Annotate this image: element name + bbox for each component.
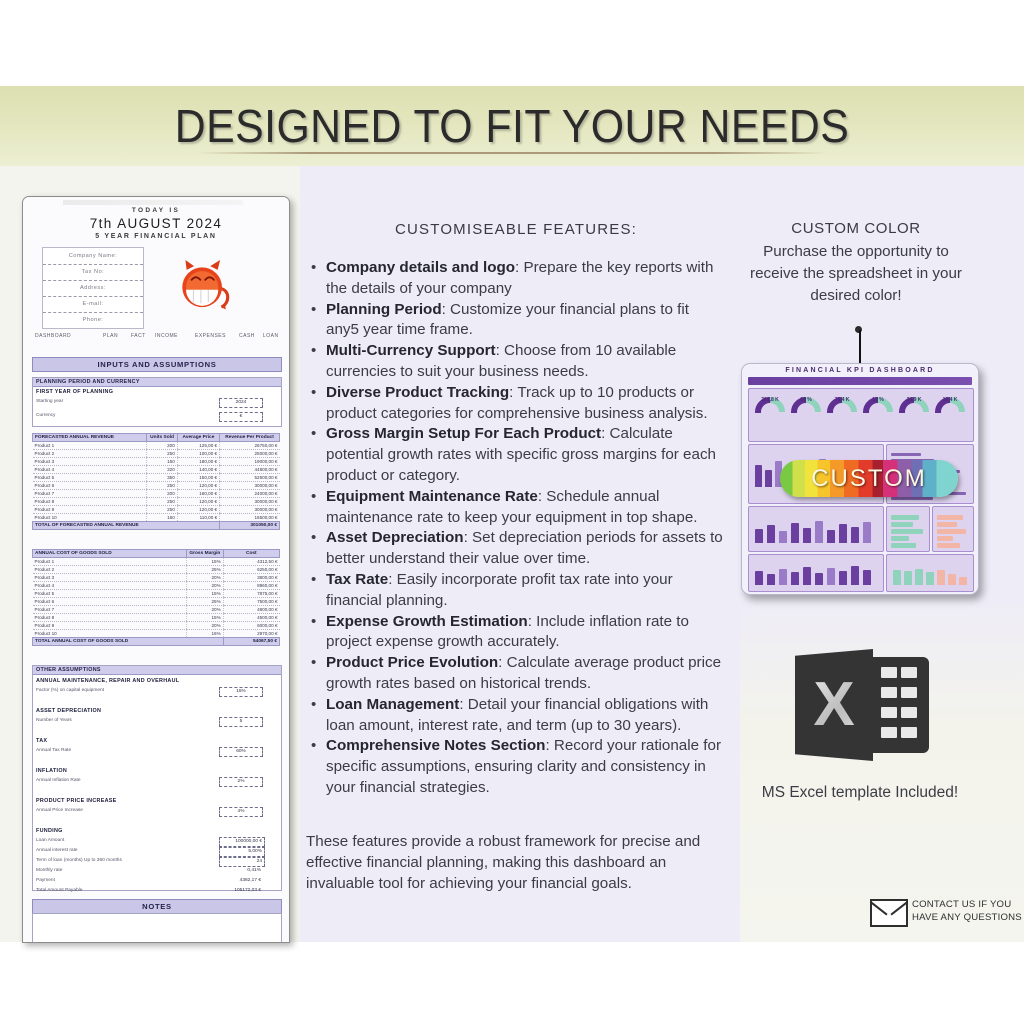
revenue-units-cell: 200 bbox=[147, 442, 178, 450]
starting-year-input[interactable]: 2024 bbox=[219, 398, 263, 408]
feature-term: Expense Growth Estimation bbox=[326, 613, 528, 630]
revenue-price-cell: 120,00 € bbox=[177, 498, 219, 506]
chart-bar bbox=[791, 572, 799, 585]
features-closing-paragraph: These features provide a robust framewor… bbox=[306, 832, 726, 894]
cogs-cost-cell: 7875,00 € bbox=[223, 590, 279, 598]
horizontal-bar bbox=[937, 536, 953, 541]
notes-section-header: NOTES bbox=[32, 899, 282, 914]
feature-bullet: Company details and logo: Prepare the ke… bbox=[306, 258, 726, 300]
cogs-name-cell: Product 9 bbox=[33, 622, 187, 630]
horizontal-bar bbox=[891, 529, 923, 534]
chart-bar bbox=[937, 570, 945, 585]
excel-grid-cell bbox=[901, 707, 917, 718]
funding-label: Payment bbox=[36, 878, 55, 883]
revenue-price-cell: 180,00 € bbox=[177, 458, 219, 466]
revenue-name-cell: Product 10 bbox=[33, 514, 147, 522]
feature-term: Gross Margin Setup For Each Product bbox=[326, 425, 601, 442]
feature-term: Comprehensive Notes Section bbox=[326, 737, 545, 754]
maintenance-input[interactable]: 15% bbox=[219, 687, 263, 697]
top-white-band bbox=[0, 0, 1024, 86]
revenue-col-units: Units Sold bbox=[147, 434, 178, 442]
spreadsheet-page: TODAY IS 7th AUGUST 2024 5 YEAR FINANCIA… bbox=[23, 197, 289, 942]
table-row: Product 3150180,00 €19000,00 € bbox=[33, 458, 280, 466]
cogs-name-cell: Product 2 bbox=[33, 566, 187, 574]
revenue-revenue-cell: 30000,00 € bbox=[220, 498, 280, 506]
company-form-box: Company Name: Tax No: Address: E-mail: P… bbox=[42, 247, 144, 329]
revenue-price-cell: 125,00 € bbox=[177, 442, 219, 450]
table-row: Product 4320140,00 €44800,00 € bbox=[33, 466, 280, 474]
chart-bar bbox=[755, 571, 763, 585]
maintenance-label: Factor (%) on capital equipment bbox=[36, 688, 104, 693]
revenue-total-label: TOTAL OF FORECASTED ANNUAL REVENUE bbox=[33, 522, 220, 530]
cogs-cost-cell: 8960,00 € bbox=[223, 582, 279, 590]
dashboard-yearly-bars-card bbox=[748, 554, 884, 592]
chart-bar bbox=[893, 570, 901, 585]
revenue-revenue-cell: 19000,00 € bbox=[220, 458, 280, 466]
chart-bar bbox=[926, 572, 934, 585]
dashboard-hbars-salmon-card bbox=[932, 506, 974, 552]
currency-label: Currency bbox=[36, 413, 55, 418]
sheet-tab-dashboard[interactable]: DASHBOARD bbox=[35, 333, 71, 339]
funding-value: 4382,17 € bbox=[219, 878, 261, 883]
tax-input[interactable]: 60% bbox=[219, 747, 263, 757]
chart-bar bbox=[755, 465, 762, 487]
table-row-line bbox=[891, 453, 921, 456]
dashboard-gauges-card: 301,8 K 68 % 75,4 K 12 % 24,9 K 19,4 K bbox=[748, 388, 974, 442]
table-row: Product 10160110,00 €16500,00 € bbox=[33, 514, 280, 522]
sheet-nav-tabs[interactable]: DASHBOARD PLAN FACT INCOME EXPENSES CASH… bbox=[31, 333, 281, 343]
chart-bar bbox=[839, 524, 847, 543]
feature-term: Loan Management bbox=[326, 696, 459, 713]
starting-year-label: Starting year bbox=[36, 399, 63, 404]
horizontal-bar bbox=[891, 536, 909, 541]
inputs-section-header: INPUTS AND ASSUMPTIONS bbox=[32, 357, 282, 372]
cogs-table: ANNUAL COST OF GOODS SOLD Gross Margin C… bbox=[32, 549, 280, 646]
revenue-revenue-cell: 30000,00 € bbox=[220, 482, 280, 490]
table-row: Product 115%4312,50 € bbox=[33, 558, 280, 566]
funding-value[interactable]: 5,00% bbox=[219, 847, 265, 857]
plan-subtitle: 5 YEAR FINANCIAL PLAN bbox=[23, 233, 289, 240]
depreciation-title: ASSET DEPRECIATION bbox=[36, 708, 101, 714]
cogs-name-cell: Product 1 bbox=[33, 558, 187, 566]
excel-logo: X bbox=[795, 645, 931, 763]
revenue-units-cell: 160 bbox=[147, 514, 178, 522]
revenue-col-price: Average Price bbox=[177, 434, 219, 442]
feature-bullet: Gross Margin Setup For Each Product: Cal… bbox=[306, 424, 726, 486]
envelope-icon bbox=[870, 899, 908, 927]
feature-term: Equipment Maintenance Rate bbox=[326, 488, 538, 505]
chart-bar bbox=[755, 529, 763, 543]
revenue-name-cell: Product 3 bbox=[33, 458, 147, 466]
revenue-units-cell: 200 bbox=[147, 490, 178, 498]
table-row: Product 515%7875,00 € bbox=[33, 590, 280, 598]
feature-term: Company details and logo bbox=[326, 259, 515, 276]
feature-bullet: Product Price Evolution: Calculate avera… bbox=[306, 653, 726, 695]
custom-pill-label: CUSTOM bbox=[780, 460, 958, 497]
table-row: Product 625%7500,00 € bbox=[33, 598, 280, 606]
excel-grid-cell bbox=[901, 727, 917, 738]
feature-bullet: Asset Depreciation: Set depreciation per… bbox=[306, 528, 726, 570]
bottom-white-band bbox=[0, 942, 1024, 1024]
depreciation-input[interactable]: 5 bbox=[219, 717, 263, 727]
sheet-top-strip bbox=[63, 200, 243, 205]
revenue-units-cell: 250 bbox=[147, 506, 178, 514]
sheet-tab-income[interactable]: INCOME bbox=[155, 333, 178, 339]
contact-text: CONTACT US IF YOU HAVE ANY QUESTIONS bbox=[912, 899, 1024, 924]
funding-label: Term of loan (months) Up to 360 months bbox=[36, 858, 122, 863]
planning-panel-title: PLANNING PERIOD AND CURRENCY bbox=[33, 378, 281, 387]
cogs-title: ANNUAL COST OF GOODS SOLD bbox=[33, 550, 187, 558]
feature-bullet: Loan Management: Detail your financial o… bbox=[306, 695, 726, 737]
sheet-tab-fact[interactable]: FACT bbox=[131, 333, 146, 339]
forecasted-revenue-table: FORECASTED ANNUAL REVENUE Units Sold Ave… bbox=[32, 433, 280, 530]
other-assumptions-title: OTHER ASSUMPTIONS bbox=[33, 666, 281, 675]
price-increase-title: PRODUCT PRICE INCREASE bbox=[36, 798, 117, 804]
gauge-cash-flow-value: 24,9 K bbox=[899, 397, 929, 403]
chart-bar bbox=[779, 569, 787, 585]
gauge-total-income-value: 301,8 K bbox=[755, 397, 785, 403]
cogs-cost-cell: 6000,00 € bbox=[223, 622, 279, 630]
cogs-cost-cell: 4312,50 € bbox=[223, 558, 279, 566]
revenue-total-value: 301050,00 € bbox=[220, 522, 280, 530]
table-row-line bbox=[891, 497, 933, 500]
custom-color-subtitle: Purchase the opportunity to receive the … bbox=[740, 241, 972, 307]
feature-bullet: Comprehensive Notes Section: Record your… bbox=[306, 736, 726, 798]
chart-bar bbox=[827, 568, 835, 585]
cogs-name-cell: Product 7 bbox=[33, 606, 187, 614]
chart-bar bbox=[791, 523, 799, 543]
title-underline bbox=[196, 152, 828, 154]
table-row: Product 1016%2970,00 € bbox=[33, 630, 280, 638]
revenue-col-revenue: Revenue Per Product bbox=[220, 434, 280, 442]
revenue-revenue-cell: 25000,00 € bbox=[220, 450, 280, 458]
chart-bar bbox=[915, 569, 923, 585]
revenue-total-row: TOTAL OF FORECASTED ANNUAL REVENUE301050… bbox=[33, 522, 280, 530]
revenue-name-cell: Product 9 bbox=[33, 506, 147, 514]
sheet-tab-loan[interactable]: LOAN bbox=[263, 333, 279, 339]
form-field-company-name[interactable]: Company Name: bbox=[43, 248, 143, 265]
form-field-tax-no[interactable]: Tax No: bbox=[43, 264, 143, 281]
revenue-units-cell: 350 bbox=[147, 474, 178, 482]
horizontal-bar bbox=[937, 515, 963, 520]
funding-value: 105172,03 € bbox=[219, 888, 261, 893]
excel-grid-cell bbox=[881, 687, 897, 698]
revenue-units-cell: 250 bbox=[147, 450, 178, 458]
horizontal-bar bbox=[937, 529, 966, 534]
table-row: Product 1200125,00 €26750,00 € bbox=[33, 442, 280, 450]
cogs-name-cell: Product 10 bbox=[33, 630, 187, 638]
revenue-price-cell: 100,00 € bbox=[177, 450, 219, 458]
gauge-ebitda-value: 75,4 K bbox=[827, 397, 857, 403]
dashboard-title: FINANCIAL KPI DASHBOARD bbox=[742, 367, 978, 374]
table-row: Product 920%6000,00 € bbox=[33, 622, 280, 630]
cogs-name-cell: Product 4 bbox=[33, 582, 187, 590]
feature-bullet: Expense Growth Estimation: Include infla… bbox=[306, 612, 726, 654]
revenue-revenue-cell: 26750,00 € bbox=[220, 442, 280, 450]
date-day: 7th bbox=[90, 216, 113, 231]
cogs-name-cell: Product 6 bbox=[33, 598, 187, 606]
excel-caption: MS Excel template Included! bbox=[740, 782, 980, 804]
cogs-margin-cell: 15% bbox=[187, 590, 224, 598]
funding-label: Monthly rate bbox=[36, 868, 62, 873]
date-rest: AUGUST 2024 bbox=[117, 216, 222, 231]
feature-term: Tax Rate bbox=[326, 571, 388, 588]
gauge-gross-profit-value: 68 % bbox=[791, 397, 821, 403]
revenue-price-cell: 120,00 € bbox=[177, 506, 219, 514]
revenue-revenue-cell: 16500,00 € bbox=[220, 514, 280, 522]
revenue-price-cell: 160,00 € bbox=[177, 490, 219, 498]
excel-grid-cell bbox=[881, 667, 897, 678]
revenue-revenue-cell: 52500,00 € bbox=[220, 474, 280, 482]
revenue-name-cell: Product 6 bbox=[33, 482, 147, 490]
chart-bar bbox=[863, 570, 871, 585]
gauge-net-profit-margin-value: 12 % bbox=[863, 397, 893, 403]
revenue-price-cell: 140,00 € bbox=[177, 466, 219, 474]
horizontal-bar bbox=[891, 522, 913, 527]
chart-bar bbox=[839, 571, 847, 585]
revenue-revenue-cell: 30000,00 € bbox=[220, 506, 280, 514]
revenue-name-cell: Product 7 bbox=[33, 490, 147, 498]
custom-color-pill[interactable]: CUSTOM bbox=[780, 460, 958, 497]
planning-period-panel: PLANNING PERIOD AND CURRENCY FIRST YEAR … bbox=[32, 377, 282, 427]
form-field-email[interactable]: E-mail: bbox=[43, 296, 143, 313]
inflation-label: Annual Inflation Rate bbox=[36, 778, 81, 783]
table-row: Product 8250120,00 €30000,00 € bbox=[33, 498, 280, 506]
revenue-name-cell: Product 4 bbox=[33, 466, 147, 474]
revenue-title: FORECASTED ANNUAL REVENUE bbox=[33, 434, 147, 442]
feature-bullet: Diverse Product Tracking: Track up to 10… bbox=[306, 383, 726, 425]
cogs-margin-cell: 25% bbox=[187, 566, 224, 574]
chart-bar bbox=[851, 527, 859, 543]
feature-term: Multi-Currency Support bbox=[326, 342, 496, 359]
revenue-units-cell: 250 bbox=[147, 482, 178, 490]
table-row: Product 6250120,00 €30000,00 € bbox=[33, 482, 280, 490]
chart-bar bbox=[803, 528, 811, 543]
feature-bullet: Tax Rate: Easily incorporate profit tax … bbox=[306, 570, 726, 612]
feature-term: Product Price Evolution bbox=[326, 654, 498, 671]
today-date: 7th AUGUST 2024 bbox=[23, 216, 289, 231]
dashboard-filter-ribbon[interactable] bbox=[748, 377, 972, 385]
today-label: TODAY IS bbox=[23, 207, 289, 214]
currency-input[interactable]: € bbox=[219, 412, 263, 422]
revenue-name-cell: Product 8 bbox=[33, 498, 147, 506]
chart-bar bbox=[765, 470, 772, 487]
feature-bullet: Equipment Maintenance Rate: Schedule ann… bbox=[306, 487, 726, 529]
funding-title: FUNDING bbox=[36, 828, 63, 834]
table-row: Product 7200160,00 €24000,00 € bbox=[33, 490, 280, 498]
cogs-margin-cell: 20% bbox=[187, 574, 224, 582]
funding-label: Annual interest rate bbox=[36, 848, 78, 853]
funding-value[interactable]: 24 bbox=[219, 857, 265, 867]
price-increase-label: Annual Price Increase bbox=[36, 808, 83, 813]
table-row: Product 320%3800,00 € bbox=[33, 574, 280, 582]
revenue-name-cell: Product 2 bbox=[33, 450, 147, 458]
horizontal-bar bbox=[891, 543, 916, 548]
cogs-total-row: TOTAL ANNUAL COST OF GOODS SOLD54067,50 … bbox=[33, 638, 280, 646]
chart-bar bbox=[815, 521, 823, 543]
cogs-margin-cell: 20% bbox=[187, 606, 224, 614]
cogs-cost-cell: 6250,00 € bbox=[223, 566, 279, 574]
devil-mascot-icon bbox=[173, 255, 235, 317]
sheet-tab-cash[interactable]: CASH bbox=[239, 333, 255, 339]
revenue-units-cell: 150 bbox=[147, 458, 178, 466]
revenue-units-cell: 320 bbox=[147, 466, 178, 474]
funding-value[interactable]: 100000,00 € bbox=[219, 837, 265, 847]
cogs-col-margin: Gross Margin bbox=[187, 550, 224, 558]
inflation-title: INFLATION bbox=[36, 768, 67, 774]
table-row: Product 225%6250,00 € bbox=[33, 566, 280, 574]
cogs-cost-cell: 2970,00 € bbox=[223, 630, 279, 638]
revenue-price-cell: 150,00 € bbox=[177, 474, 219, 482]
excel-logo-letter: X bbox=[795, 649, 873, 761]
excel-grid-cell bbox=[901, 687, 917, 698]
chart-bar bbox=[851, 566, 859, 585]
sheet-tab-expenses[interactable]: EXPENSES bbox=[195, 333, 226, 339]
chart-bar bbox=[767, 525, 775, 543]
cogs-margin-cell: 25% bbox=[187, 598, 224, 606]
gauge-total-profit-margin-value: 19,4 K bbox=[935, 397, 965, 403]
horizontal-bar bbox=[937, 543, 960, 548]
other-assumptions-panel: OTHER ASSUMPTIONS ANNUAL MAINTENANCE, RE… bbox=[32, 665, 282, 891]
cogs-margin-cell: 15% bbox=[187, 558, 224, 566]
contact-line-1: CONTACT US IF YOU bbox=[912, 899, 1024, 912]
cogs-cost-cell: 4500,00 € bbox=[223, 614, 279, 622]
form-field-address[interactable]: Address: bbox=[43, 280, 143, 297]
revenue-revenue-cell: 24000,00 € bbox=[220, 490, 280, 498]
chart-bar bbox=[948, 574, 956, 585]
revenue-revenue-cell: 44800,00 € bbox=[220, 466, 280, 474]
table-row: Product 720%4800,00 € bbox=[33, 606, 280, 614]
first-year-subtitle: FIRST YEAR OF PLANNING bbox=[36, 389, 113, 395]
revenue-price-cell: 120,00 € bbox=[177, 482, 219, 490]
excel-logo-grid bbox=[867, 657, 929, 753]
cogs-name-cell: Product 5 bbox=[33, 590, 187, 598]
depreciation-label: Number of Years bbox=[36, 718, 72, 723]
cogs-total-value: 54067,50 € bbox=[223, 638, 279, 646]
chart-bar bbox=[959, 577, 967, 585]
features-list: Company details and logo: Prepare the ke… bbox=[306, 258, 726, 799]
horizontal-bar bbox=[937, 522, 957, 527]
cogs-col-cost: Cost bbox=[223, 550, 279, 558]
sheet-tab-plan[interactable]: PLAN bbox=[103, 333, 118, 339]
chart-bar bbox=[827, 530, 835, 543]
excel-grid-cell bbox=[881, 727, 897, 738]
chart-bar bbox=[779, 531, 787, 543]
cogs-margin-cell: 16% bbox=[187, 630, 224, 638]
dashboard-hbars-teal-card bbox=[886, 506, 930, 552]
tax-title: TAX bbox=[36, 738, 47, 744]
tax-label: Annual Tax Rate bbox=[36, 748, 71, 753]
cogs-total-label: TOTAL ANNUAL COST OF GOODS SOLD bbox=[33, 638, 224, 646]
table-row: Product 420%8960,00 € bbox=[33, 582, 280, 590]
funding-label: Total Amount Payable bbox=[36, 888, 82, 893]
cogs-cost-cell: 4800,00 € bbox=[223, 606, 279, 614]
cogs-cost-cell: 7500,00 € bbox=[223, 598, 279, 606]
table-row: Product 2250100,00 €25000,00 € bbox=[33, 450, 280, 458]
table-row: Product 5350150,00 €52500,00 € bbox=[33, 474, 280, 482]
excel-grid-cell bbox=[881, 707, 897, 718]
feature-bullet: Multi-Currency Support: Choose from 10 a… bbox=[306, 341, 726, 383]
cogs-margin-cell: 20% bbox=[187, 622, 224, 630]
chart-bar bbox=[803, 567, 811, 585]
dashboard-mixed-bars-card bbox=[886, 554, 974, 592]
cogs-margin-cell: 15% bbox=[187, 614, 224, 622]
cogs-margin-cell: 20% bbox=[187, 582, 224, 590]
revenue-name-cell: Product 5 bbox=[33, 474, 147, 482]
chart-bar bbox=[904, 571, 912, 585]
page-title: DESIGNED TO FIT YOUR NEEDS bbox=[36, 96, 988, 156]
feature-bullet: Planning Period: Customize your financia… bbox=[306, 300, 726, 342]
form-field-phone[interactable]: Phone: bbox=[43, 312, 143, 328]
contact-line-2: HAVE ANY QUESTIONS bbox=[912, 912, 1024, 925]
dashboard-expense-bars-card bbox=[748, 506, 884, 552]
price-increase-input[interactable]: 4% bbox=[219, 807, 263, 817]
cogs-cost-cell: 3800,00 € bbox=[223, 574, 279, 582]
chart-bar bbox=[767, 574, 775, 585]
feature-term: Planning Period bbox=[326, 301, 442, 318]
spreadsheet-preview: TODAY IS 7th AUGUST 2024 5 YEAR FINANCIA… bbox=[22, 196, 290, 943]
feature-term: Diverse Product Tracking bbox=[326, 384, 509, 401]
chart-bar bbox=[815, 573, 823, 585]
revenue-name-cell: Product 1 bbox=[33, 442, 147, 450]
funding-value: 0,41% bbox=[219, 868, 261, 873]
cogs-name-cell: Product 3 bbox=[33, 574, 187, 582]
funding-label: Loan Amount bbox=[36, 838, 64, 843]
revenue-price-cell: 110,00 € bbox=[177, 514, 219, 522]
table-row: Product 815%4500,00 € bbox=[33, 614, 280, 622]
cogs-name-cell: Product 8 bbox=[33, 614, 187, 622]
features-heading: CUSTOMISEABLE FEATURES: bbox=[306, 221, 726, 238]
chart-bar bbox=[863, 522, 871, 543]
table-row: Product 9250120,00 €30000,00 € bbox=[33, 506, 280, 514]
feature-term: Asset Depreciation bbox=[326, 529, 464, 546]
notes-panel[interactable] bbox=[32, 913, 282, 943]
maintenance-title: ANNUAL MAINTENANCE, REPAIR AND OVERHAUL bbox=[36, 678, 179, 684]
custom-color-title: CUSTOM COLOR bbox=[740, 220, 972, 237]
excel-grid-cell bbox=[901, 667, 917, 678]
horizontal-bar bbox=[891, 515, 919, 520]
poster-canvas: DESIGNED TO FIT YOUR NEEDS TODAY IS 7th … bbox=[0, 0, 1024, 1024]
inflation-input[interactable]: 2% bbox=[219, 777, 263, 787]
revenue-units-cell: 250 bbox=[147, 498, 178, 506]
